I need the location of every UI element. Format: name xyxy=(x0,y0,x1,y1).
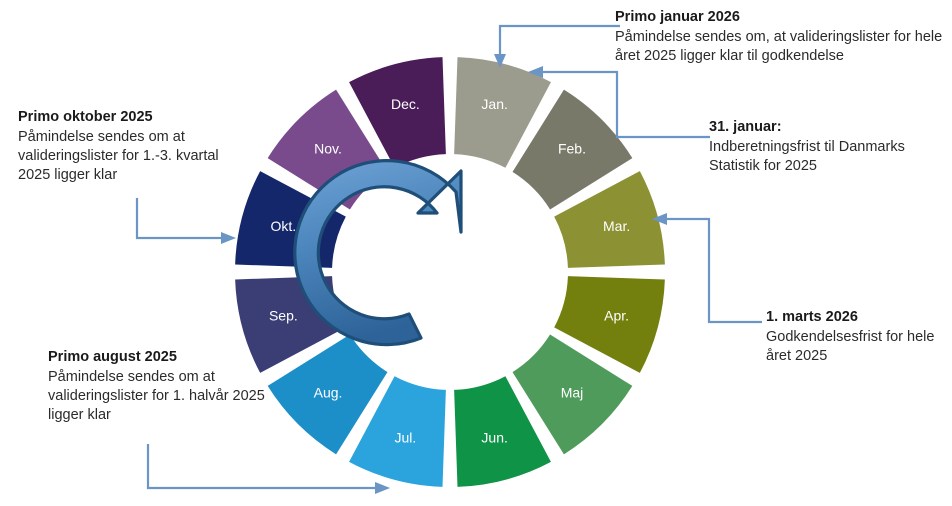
note-heading: 1. marts 2026 xyxy=(766,308,952,327)
connector-primo-oktober xyxy=(137,198,222,238)
month-label-nov: Nov. xyxy=(314,141,342,157)
month-label-jul: Jul. xyxy=(394,429,416,445)
cycle-arrow xyxy=(295,161,461,345)
month-label-dec: Dec. xyxy=(391,96,420,112)
month-label-okt: Okt. xyxy=(271,218,297,234)
connector-primo-januar xyxy=(500,26,620,56)
note-body: Påmindelse sendes om at valideringsliste… xyxy=(48,368,280,425)
note-1-marts: 1. marts 2026 Godkendelsesfrist for hele… xyxy=(766,308,952,366)
note-body: Påmindelse sendes om at valideringsliste… xyxy=(18,128,250,185)
note-body: Godkendelsesfrist for hele året 2025 xyxy=(766,328,952,366)
month-label-apr: Apr. xyxy=(604,307,629,323)
arrowhead-primo-august xyxy=(375,482,390,494)
month-label-mar: Mar. xyxy=(603,218,630,234)
month-label-aug: Aug. xyxy=(314,385,343,401)
note-primo-august: Primo august 2025 Påmindelse sendes om a… xyxy=(48,348,280,424)
month-label-maj: Maj xyxy=(561,385,584,401)
wheel-svg: Jan.Feb.Mar.Apr.MajJun.Jul.Aug.Sep.Okt.N… xyxy=(0,0,952,506)
month-label-group: Jan.Feb.Mar.Apr.MajJun.Jul.Aug.Sep.Okt.N… xyxy=(269,96,630,445)
note-heading: Primo januar 2026 xyxy=(615,8,945,27)
note-heading: Primo oktober 2025 xyxy=(18,108,250,127)
connector-1-marts xyxy=(666,219,762,322)
note-primo-januar: Primo januar 2026 Påmindelse sendes om, … xyxy=(615,8,945,66)
note-body: Påmindelse sendes om, at valideringslist… xyxy=(615,28,945,66)
note-heading: 31. januar: xyxy=(709,118,949,137)
month-label-sep: Sep. xyxy=(269,307,298,323)
connector-primo-august xyxy=(148,444,376,488)
arrowhead-primo-oktober xyxy=(221,232,236,244)
month-label-jun: Jun. xyxy=(481,429,507,445)
note-heading: Primo august 2025 xyxy=(48,348,280,367)
note-31-januar: 31. januar: Indberetningsfrist til Danma… xyxy=(709,118,949,176)
month-label-feb: Feb. xyxy=(558,141,586,157)
diagram-canvas: Jan.Feb.Mar.Apr.MajJun.Jul.Aug.Sep.Okt.N… xyxy=(0,0,952,506)
note-body: Indberetningsfrist til Danmarks Statisti… xyxy=(709,138,949,176)
month-label-jan: Jan. xyxy=(481,96,507,112)
note-primo-oktober: Primo oktober 2025 Påmindelse sendes om … xyxy=(18,108,250,184)
